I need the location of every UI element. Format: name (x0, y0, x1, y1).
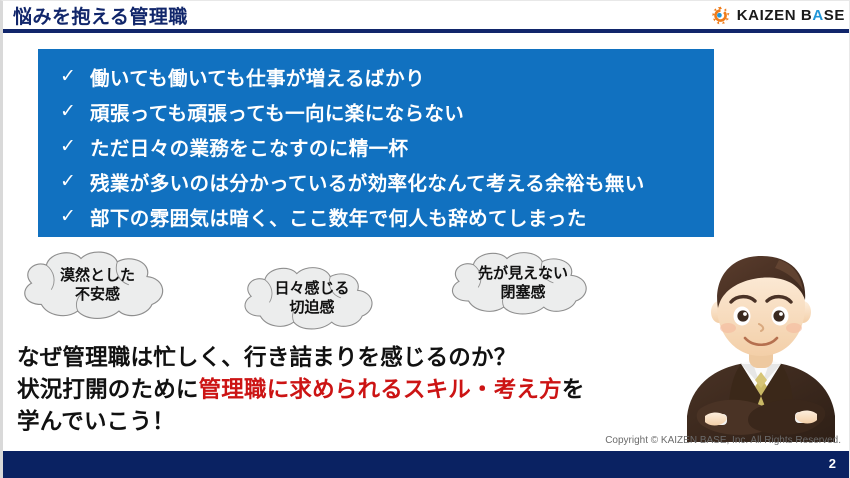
logo-text-accent: A (812, 7, 823, 24)
bullet-item-label: 頑張っても頑張っても一向に楽にならない (90, 97, 464, 126)
thought-cloud: 先が見えない閉塞感 (443, 248, 603, 320)
thought-cloud: 漠然とした不安感 (15, 247, 180, 325)
page-title: 悩みを抱える管理職 (13, 2, 188, 29)
gear-icon (710, 5, 731, 26)
message-line-2-plain-end: を (562, 377, 585, 402)
cloud-label-line1: 日々感じる (274, 280, 349, 297)
cloud-label: 漠然とした不安感 (60, 267, 135, 305)
cloud-label-line2: 閉塞感 (500, 284, 545, 301)
message-line-2-plain-start: 状況打開のために (17, 377, 199, 402)
header-divider (3, 29, 850, 33)
check-icon: ✓ (56, 102, 90, 121)
eye-right (773, 310, 784, 321)
slide-header: 悩みを抱える管理職 KAIZEN BASE (3, 1, 850, 33)
thought-cloud: 日々感じる切迫感 (236, 263, 388, 335)
kaizen-base-logo: KAIZEN BASE (710, 3, 845, 27)
message-highlight: 管理職に求められるスキル・考え方 (199, 377, 562, 402)
check-icon: ✓ (56, 207, 90, 226)
businessman-illustration (675, 246, 847, 450)
check-icon: ✓ (56, 137, 90, 156)
bullet-item: ✓ 部下の雰囲気は暗く、ここ数年で何人も辞めてしまった (56, 199, 714, 234)
bullet-item-label: 働いても働いても仕事が増えるばかり (90, 62, 425, 91)
cloud-label-line1: 先が見えない (478, 265, 568, 282)
eye-left (737, 310, 748, 321)
cloud-label-line2: 切迫感 (289, 299, 334, 316)
bullet-item-label: 部下の雰囲気は暗く、ここ数年で何人も辞めてしまった (90, 202, 587, 231)
message-line-1: なぜ管理職は忙しく、行き詰まりを感じるのか？ (17, 342, 657, 374)
bullet-item-label: ただ日々の業務をこなすのに精一杯 (90, 132, 408, 161)
bullet-item: ✓ 頑張っても頑張っても一向に楽にならない (56, 94, 714, 129)
closing-message: なぜ管理職は忙しく、行き詰まりを感じるのか？ 状況打開のために管理職に求められる… (17, 342, 657, 438)
page-number: 2 (829, 456, 836, 471)
logo-text-part1: KAIZEN B (737, 7, 813, 24)
copyright-text: Copyright © KAIZEN BASE, Inc. All Rights… (605, 435, 841, 446)
message-line-2: 状況打開のために管理職に求められるスキル・考え方を (17, 374, 657, 406)
logo-text-part2: SE (824, 7, 845, 24)
cloud-label: 先が見えない閉塞感 (478, 265, 568, 303)
logo-wordmark: KAIZEN BASE (737, 7, 845, 24)
bullet-item: ✓ 働いても働いても仕事が増えるばかり (56, 59, 714, 94)
cloud-label-line1: 漠然とした (60, 267, 135, 284)
cloud-label: 日々感じる切迫感 (274, 280, 349, 318)
check-icon: ✓ (56, 67, 90, 86)
bullet-item-label: 残業が多いのは分かっているが効率化なんて考える余裕も無い (90, 167, 645, 196)
message-line-3: 学んでいこう！ (17, 406, 657, 438)
footer-bar (3, 451, 850, 478)
bullet-item: ✓ ただ日々の業務をこなすのに精一杯 (56, 129, 714, 164)
pain-points-panel: ✓ 働いても働いても仕事が増えるばかり ✓ 頑張っても頑張っても一向に楽にならな… (38, 49, 714, 237)
slide-canvas: 悩みを抱える管理職 KAIZEN BASE (0, 0, 850, 478)
cloud-label-line2: 不安感 (75, 286, 120, 303)
bullet-item: ✓ 残業が多いのは分かっているが効率化なんて考える余裕も無い (56, 164, 714, 199)
check-icon: ✓ (56, 172, 90, 191)
